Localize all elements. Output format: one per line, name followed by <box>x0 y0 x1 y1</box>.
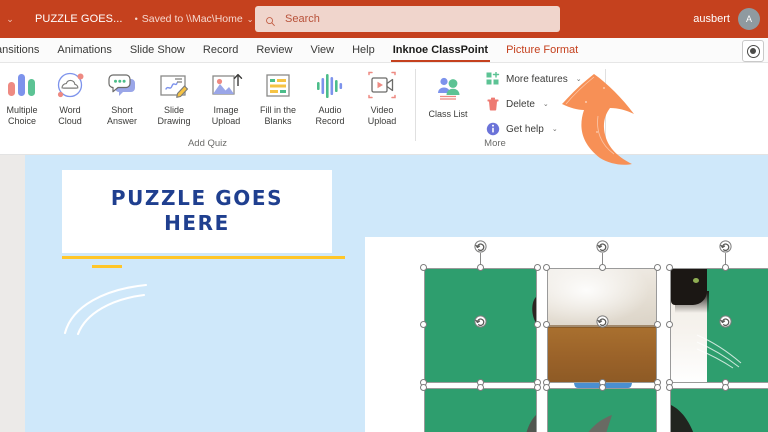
puzzle-tile[interactable] <box>547 388 657 432</box>
search-placeholder: Search <box>285 13 320 25</box>
puzzle-tile[interactable] <box>424 388 537 432</box>
ribbon-button-label: MultipleChoice <box>0 105 49 127</box>
ribbon-command-label: Get help <box>506 124 544 135</box>
account-area[interactable]: ausbert A <box>693 0 760 38</box>
selection-handle[interactable] <box>599 264 606 271</box>
ribbon-button-label: SlideDrawing <box>147 105 201 127</box>
rotate-handle-icon[interactable] <box>474 315 487 328</box>
rotate-handle-icon[interactable] <box>719 315 732 328</box>
tab-help[interactable]: Help <box>343 38 384 63</box>
ribbon-button-audio-record[interactable]: AudioRecord <box>304 67 356 127</box>
search-icon <box>265 14 276 25</box>
info-circle-icon <box>486 122 500 136</box>
selection-handle[interactable] <box>722 384 729 391</box>
ribbon-button-label: ShortAnswer <box>95 105 149 127</box>
tab-review[interactable]: Review <box>247 38 301 63</box>
slide-title-card[interactable]: PUZZLE GOES HERE <box>62 170 332 253</box>
ribbon-button-label: Class List <box>421 109 475 120</box>
selection-handle[interactable] <box>666 264 673 271</box>
orange-curved-arrow <box>548 58 658 168</box>
rotate-handle-icon[interactable] <box>596 315 609 328</box>
class-list-icon <box>431 71 465 107</box>
selection-handle[interactable] <box>420 264 427 271</box>
record-dot <box>750 48 756 54</box>
selection-handle[interactable] <box>477 384 484 391</box>
rotate-handle-icon[interactable] <box>474 240 487 253</box>
slide-title-dash <box>92 265 122 268</box>
ribbon-group-label-add-quiz: Add Quiz <box>0 138 415 149</box>
cat-eye <box>693 278 699 283</box>
selection-handle[interactable] <box>654 321 661 328</box>
ribbon-button-image-upload[interactable]: ImageUpload <box>200 67 252 127</box>
ribbon-command-get-help[interactable]: Get help ⌄ <box>486 120 558 138</box>
selection-handle[interactable] <box>666 384 673 391</box>
tab-inknoe-classpoint[interactable]: Inknoe ClassPoint <box>384 38 497 63</box>
ribbon-button-label: ImageUpload <box>199 105 253 127</box>
selection-handle[interactable] <box>654 384 661 391</box>
grid-plus-icon <box>486 72 500 86</box>
form-fields-icon <box>261 67 295 103</box>
ribbon-button-label: Fill in theBlanks <box>251 105 305 127</box>
ribbon-button-short-answer[interactable]: ShortAnswer <box>96 67 148 127</box>
tab-transitions[interactable]: ansitions <box>0 38 48 63</box>
pencil-board-icon <box>157 67 191 103</box>
selection-handle[interactable] <box>534 321 541 328</box>
speech-bubble-icon <box>105 67 139 103</box>
document-title[interactable]: PUZZLE GOES... <box>35 13 123 25</box>
brown-surface-region <box>548 327 657 383</box>
bar-chart-icon <box>5 67 39 103</box>
ribbon-button-label: AudioRecord <box>303 105 357 127</box>
save-status[interactable]: • Saved to \\Mac\Home ⌄ <box>135 13 254 25</box>
ribbon-group-label-more: More <box>440 138 550 149</box>
title-bar: ⌄ PUZZLE GOES... • Saved to \\Mac\Home ⌄… <box>0 0 768 38</box>
selection-handle[interactable] <box>543 384 550 391</box>
ribbon-button-label: VideoUpload <box>355 105 409 127</box>
selection-handle[interactable] <box>543 264 550 271</box>
ribbon-button-class-list[interactable]: Class List <box>422 71 474 120</box>
ribbon-button-word-cloud[interactable]: WordCloud <box>44 67 96 127</box>
tab-view[interactable]: View <box>301 38 343 63</box>
image-upload-icon <box>209 67 243 103</box>
puzzle-tile[interactable] <box>670 388 768 432</box>
selection-handle[interactable] <box>420 384 427 391</box>
word-cloud-icon <box>53 67 87 103</box>
selection-handle[interactable] <box>654 264 661 271</box>
rotate-handle-icon[interactable] <box>596 240 609 253</box>
rotate-handle-icon[interactable] <box>719 240 732 253</box>
trash-icon <box>486 97 500 111</box>
selection-handle[interactable] <box>599 384 606 391</box>
slide-title-line-2: HERE <box>62 211 332 236</box>
ribbon-command-label: Delete <box>506 99 535 110</box>
selection-handle[interactable] <box>543 321 550 328</box>
tab-slide-show[interactable]: Slide Show <box>121 38 194 63</box>
selection-handle[interactable] <box>666 321 673 328</box>
tab-animations[interactable]: Animations <box>48 38 120 63</box>
ribbon-button-slide-drawing[interactable]: SlideDrawing <box>148 67 200 127</box>
tab-record[interactable]: Record <box>194 38 247 63</box>
ribbon-command-delete[interactable]: Delete ⌄ <box>486 95 549 113</box>
selection-handle[interactable] <box>477 264 484 271</box>
ribbon-button-video-upload[interactable]: VideoUpload <box>356 67 408 127</box>
save-status-chevron-down-icon: ⌄ <box>247 15 254 24</box>
record-ring <box>747 45 760 58</box>
decorative-arcs <box>60 280 180 335</box>
user-name-label: ausbert <box>693 13 730 25</box>
ribbon-button-fill-in-the-blanks[interactable]: Fill in theBlanks <box>252 67 304 127</box>
avatar[interactable]: A <box>738 8 760 30</box>
ribbon-button-multiple-choice[interactable]: MultipleChoice <box>0 67 48 127</box>
slide[interactable]: PUZZLE GOES HERE <box>25 155 768 432</box>
selection-handle[interactable] <box>722 264 729 271</box>
slide-title-line-1: PUZZLE GOES <box>62 186 332 211</box>
save-status-label: Saved to \\Mac\Home <box>142 13 243 25</box>
ribbon-button-label: WordCloud <box>43 105 97 127</box>
save-status-dot-icon: • <box>135 14 138 24</box>
ribbon-group-add-quiz: MultipleChoice WordCloud <box>0 63 415 155</box>
waveform-icon <box>313 67 347 103</box>
record-circle-icon[interactable] <box>742 40 764 62</box>
selection-handle[interactable] <box>534 384 541 391</box>
video-camera-icon <box>365 67 399 103</box>
selection-handle[interactable] <box>534 264 541 271</box>
cat-fur-fade <box>675 291 709 313</box>
quick-access-toolbar-chevron-icon[interactable]: ⌄ <box>3 15 17 24</box>
slide-canvas-area[interactable]: PUZZLE GOES HERE <box>0 155 768 432</box>
search-input[interactable]: Search <box>255 6 560 32</box>
powerpoint-window: ⌄ PUZZLE GOES... • Saved to \\Mac\Home ⌄… <box>0 0 768 432</box>
selection-handle[interactable] <box>420 321 427 328</box>
slide-title-underline <box>62 256 345 259</box>
